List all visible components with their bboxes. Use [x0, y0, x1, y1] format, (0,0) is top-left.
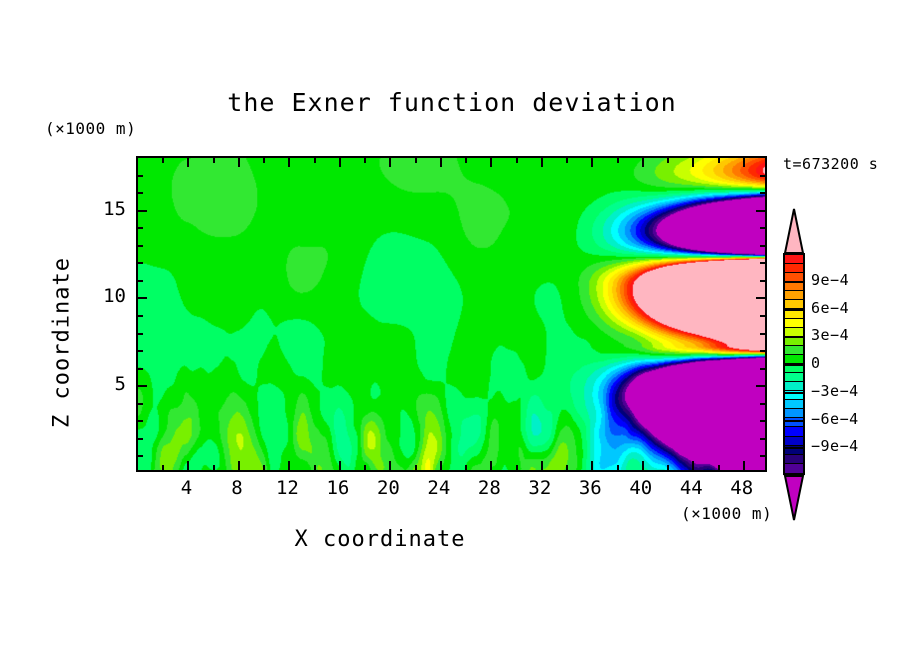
axis-tick — [756, 385, 765, 387]
colorbar-band — [785, 319, 803, 328]
axis-tick — [440, 158, 442, 167]
colorbar-over-arrow — [783, 208, 805, 254]
axis-tick — [743, 158, 745, 167]
axis-tick — [138, 420, 143, 422]
x-tick-label: 36 — [567, 477, 613, 499]
axis-tick — [541, 461, 543, 470]
colorbar-tick — [783, 336, 805, 338]
axis-tick — [642, 461, 644, 470]
axis-tick — [760, 227, 765, 229]
axis-tick — [138, 438, 143, 440]
axis-tick — [692, 461, 694, 470]
colorbar-band — [785, 455, 803, 464]
colorbar-band — [785, 437, 803, 446]
axis-tick — [364, 465, 366, 470]
axis-tick — [364, 158, 366, 163]
colorbar-tick — [783, 364, 805, 366]
axis-tick — [591, 461, 593, 470]
axis-tick — [760, 315, 765, 317]
colorbar-tick — [783, 447, 805, 449]
axis-tick — [756, 210, 765, 212]
axis-tick — [541, 158, 543, 167]
axis-tick — [465, 158, 467, 163]
colorbar-band — [785, 264, 803, 273]
axis-tick — [138, 192, 143, 194]
axis-tick — [389, 461, 391, 470]
axis-tick — [288, 158, 290, 167]
colorbar-band — [785, 346, 803, 355]
axis-tick — [566, 158, 568, 163]
axis-tick — [760, 350, 765, 352]
x-tick-label: 4 — [163, 477, 209, 499]
axis-tick — [566, 465, 568, 470]
colorbar-tick — [783, 420, 805, 422]
colorbar-band — [785, 409, 803, 418]
colorbar-under-arrow — [783, 474, 805, 521]
axis-tick — [591, 158, 593, 167]
axis-tick — [415, 465, 417, 470]
y-tick-label: 10 — [86, 285, 126, 307]
axis-tick — [138, 403, 143, 405]
axis-tick — [440, 461, 442, 470]
axis-tick — [162, 158, 164, 163]
axis-tick — [760, 403, 765, 405]
axis-tick — [617, 158, 619, 163]
contour-field — [138, 158, 765, 470]
axis-tick — [667, 158, 669, 163]
axis-tick — [516, 158, 518, 163]
axis-tick — [760, 192, 765, 194]
axis-tick — [213, 158, 215, 163]
axis-tick — [760, 175, 765, 177]
axis-tick — [760, 455, 765, 457]
y-tick-label: 15 — [86, 198, 126, 220]
axis-tick — [760, 438, 765, 440]
colorbar[interactable] — [783, 208, 805, 520]
x-tick-label: 48 — [719, 477, 765, 499]
axis-tick — [756, 297, 765, 299]
axis-tick — [213, 465, 215, 470]
x-tick-label: 40 — [618, 477, 664, 499]
colorbar-band — [785, 291, 803, 300]
axis-tick — [760, 368, 765, 370]
axis-tick — [642, 158, 644, 167]
axis-tick — [138, 315, 143, 317]
axis-tick — [314, 465, 316, 470]
x-axis-title: X coordinate — [0, 527, 760, 552]
axis-tick — [692, 158, 694, 167]
axis-tick — [339, 461, 341, 470]
axis-tick — [263, 158, 265, 163]
y-axis-title: Z coordinate — [50, 213, 75, 473]
axis-tick — [667, 465, 669, 470]
colorbar-band — [785, 355, 803, 364]
axis-tick — [238, 158, 240, 167]
axis-tick — [465, 465, 467, 470]
colorbar-band — [785, 309, 803, 318]
axis-tick — [718, 158, 720, 163]
axis-tick — [490, 461, 492, 470]
axis-tick — [760, 333, 765, 335]
colorbar-band — [785, 400, 803, 409]
axis-tick — [516, 465, 518, 470]
y-tick-label: 5 — [86, 373, 126, 395]
axis-tick — [760, 262, 765, 264]
axis-tick — [617, 465, 619, 470]
colorbar-band — [785, 464, 803, 473]
axis-tick — [760, 420, 765, 422]
axis-tick — [162, 465, 164, 470]
colorbar-label: 0 — [811, 354, 821, 372]
colorbar-label: 9e−4 — [811, 271, 849, 289]
axis-tick — [187, 158, 189, 167]
colorbar-label: 6e−4 — [811, 299, 849, 317]
axis-tick — [138, 333, 143, 335]
x-tick-label: 28 — [466, 477, 512, 499]
colorbar-label: −6e−4 — [811, 410, 859, 428]
time-annotation: t=673200 s — [783, 155, 878, 173]
y-axis-unit-label: (×1000 m) — [45, 119, 136, 138]
colorbar-tick — [783, 281, 805, 283]
colorbar-band — [785, 382, 803, 391]
axis-tick — [138, 350, 143, 352]
axis-tick — [138, 245, 143, 247]
colorbar-band — [785, 282, 803, 291]
colorbar-band — [785, 373, 803, 382]
axis-tick — [389, 158, 391, 167]
colorbar-label: −3e−4 — [811, 382, 859, 400]
axis-tick — [138, 297, 147, 299]
x-tick-label: 12 — [264, 477, 310, 499]
axis-tick — [238, 461, 240, 470]
x-tick-label: 8 — [214, 477, 260, 499]
axis-tick — [718, 465, 720, 470]
colorbar-band — [785, 255, 803, 264]
contour-plot-area[interactable] — [136, 156, 767, 472]
axis-tick — [138, 210, 147, 212]
x-tick-label: 16 — [315, 477, 361, 499]
colorbar-label: 3e−4 — [811, 326, 849, 344]
x-tick-label: 20 — [365, 477, 411, 499]
x-tick-label: 32 — [517, 477, 563, 499]
axis-tick — [138, 368, 143, 370]
axis-tick — [138, 227, 143, 229]
axis-tick — [138, 455, 143, 457]
axis-tick — [760, 245, 765, 247]
axis-tick — [490, 158, 492, 167]
axis-tick — [415, 158, 417, 163]
axis-tick — [138, 385, 147, 387]
colorbar-tick — [783, 392, 805, 394]
axis-tick — [138, 175, 143, 177]
x-axis-unit-label: (×1000 m) — [681, 504, 772, 523]
axis-tick — [288, 461, 290, 470]
axis-tick — [138, 262, 143, 264]
axis-tick — [187, 461, 189, 470]
axis-tick — [263, 465, 265, 470]
axis-tick — [339, 158, 341, 167]
x-tick-label: 24 — [416, 477, 462, 499]
colorbar-label: −9e−4 — [811, 437, 859, 455]
axis-tick — [743, 461, 745, 470]
colorbar-band — [785, 427, 803, 436]
axis-tick — [138, 280, 143, 282]
axis-tick — [314, 158, 316, 163]
axis-tick — [760, 280, 765, 282]
page-title: the Exner function deviation — [0, 88, 904, 117]
colorbar-tick — [783, 309, 805, 311]
x-tick-label: 44 — [668, 477, 714, 499]
